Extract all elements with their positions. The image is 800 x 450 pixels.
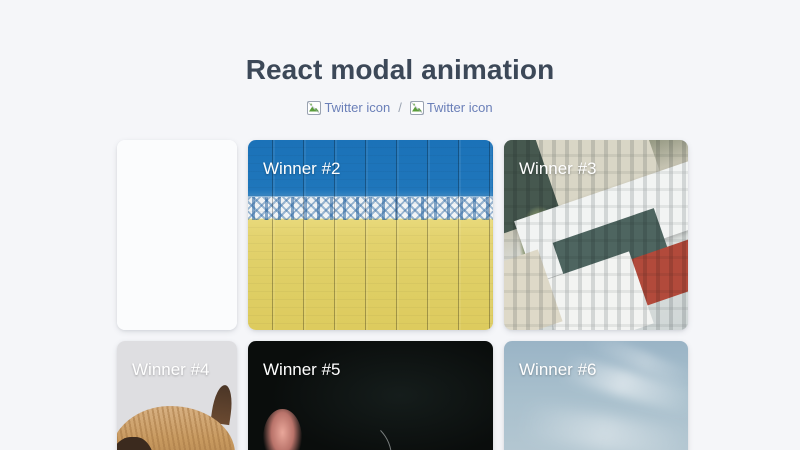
- roofs-window-texture: [504, 140, 688, 330]
- twitter-link-2-alt-text: Twitter icon: [427, 100, 493, 116]
- page-header: React modal animation Twitter icon /: [0, 0, 800, 116]
- twitter-link-1-alt-text: Twitter icon: [324, 100, 390, 116]
- card-2-image: [248, 140, 493, 330]
- subtitle-separator: /: [397, 100, 403, 116]
- card-1-image: [117, 140, 237, 330]
- gallery-card-5[interactable]: Winner #5: [248, 341, 493, 450]
- broken-image-icon: [307, 101, 321, 115]
- gallery-card-6[interactable]: Winner #6: [504, 341, 688, 450]
- fence-grain-texture: [248, 140, 493, 330]
- broken-image-icon: [410, 101, 424, 115]
- gallery-card-2[interactable]: Winner #2: [248, 140, 493, 330]
- subtitle-links: Twitter icon / Twitter icon: [0, 100, 800, 116]
- winner-gallery-grid: Winner #2 Winner #3: [117, 140, 683, 450]
- page-title: React modal animation: [0, 53, 800, 87]
- card-4-image: [117, 341, 237, 450]
- card-6-image: [504, 341, 688, 450]
- card-5-image: [248, 341, 493, 450]
- twitter-link-1[interactable]: Twitter icon: [307, 100, 390, 116]
- cloud-wisp-2: [521, 404, 688, 450]
- card-3-image: [504, 140, 688, 330]
- gallery-card-3[interactable]: Winner #3: [504, 140, 688, 330]
- gallery-card-1[interactable]: [117, 140, 237, 330]
- twitter-link-2[interactable]: Twitter icon: [410, 100, 493, 116]
- gallery-card-4[interactable]: Winner #4: [117, 341, 237, 450]
- app-root: React modal animation Twitter icon /: [0, 0, 800, 450]
